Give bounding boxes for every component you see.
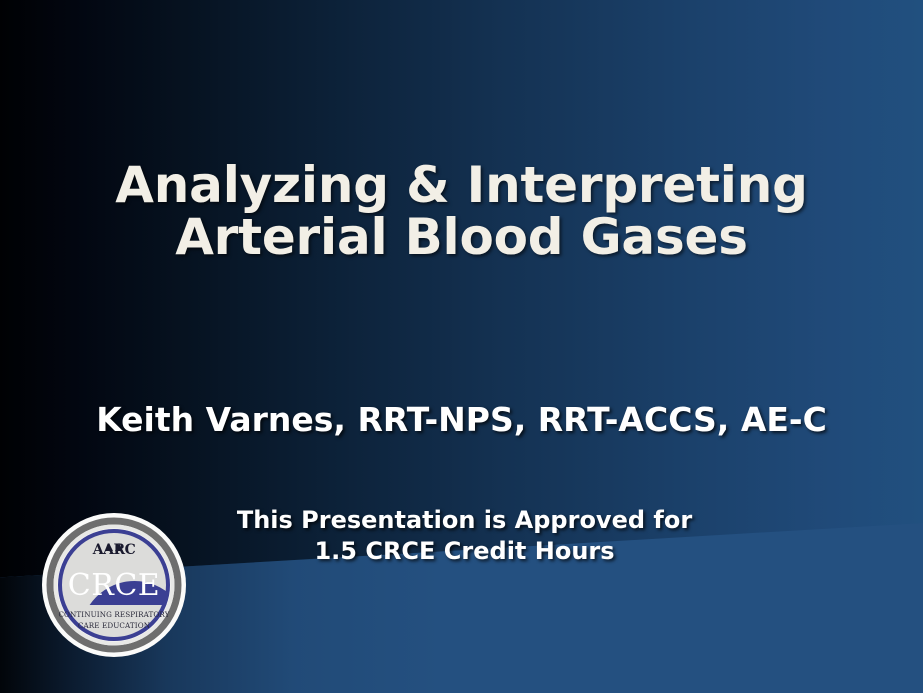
seal-subtitle-line-1: CONTINUING RESPIRATORY [58, 610, 169, 619]
presenter-name: Keith Varnes, RRT-NPS, RRT-ACCS, AE-C [0, 400, 923, 439]
title-slide: Analyzing & Interpreting Arterial Blood … [0, 0, 923, 693]
crce-seal-logo: AARC CRCE CONTINUING RESPIRATORY CARE ED… [41, 512, 187, 658]
slide-title-line-2: Arterial Blood Gases [0, 212, 923, 264]
slide-title-line-1: Analyzing & Interpreting [0, 160, 923, 212]
seal-crce-wordmark: CRCE [68, 568, 160, 603]
aarc-mark-icon: AARC [92, 542, 136, 558]
seal-subtitle-line-2: CARE EDUCATION [78, 621, 150, 630]
svg-text:AARC: AARC [92, 542, 136, 558]
slide-title: Analyzing & Interpreting Arterial Blood … [0, 160, 923, 263]
